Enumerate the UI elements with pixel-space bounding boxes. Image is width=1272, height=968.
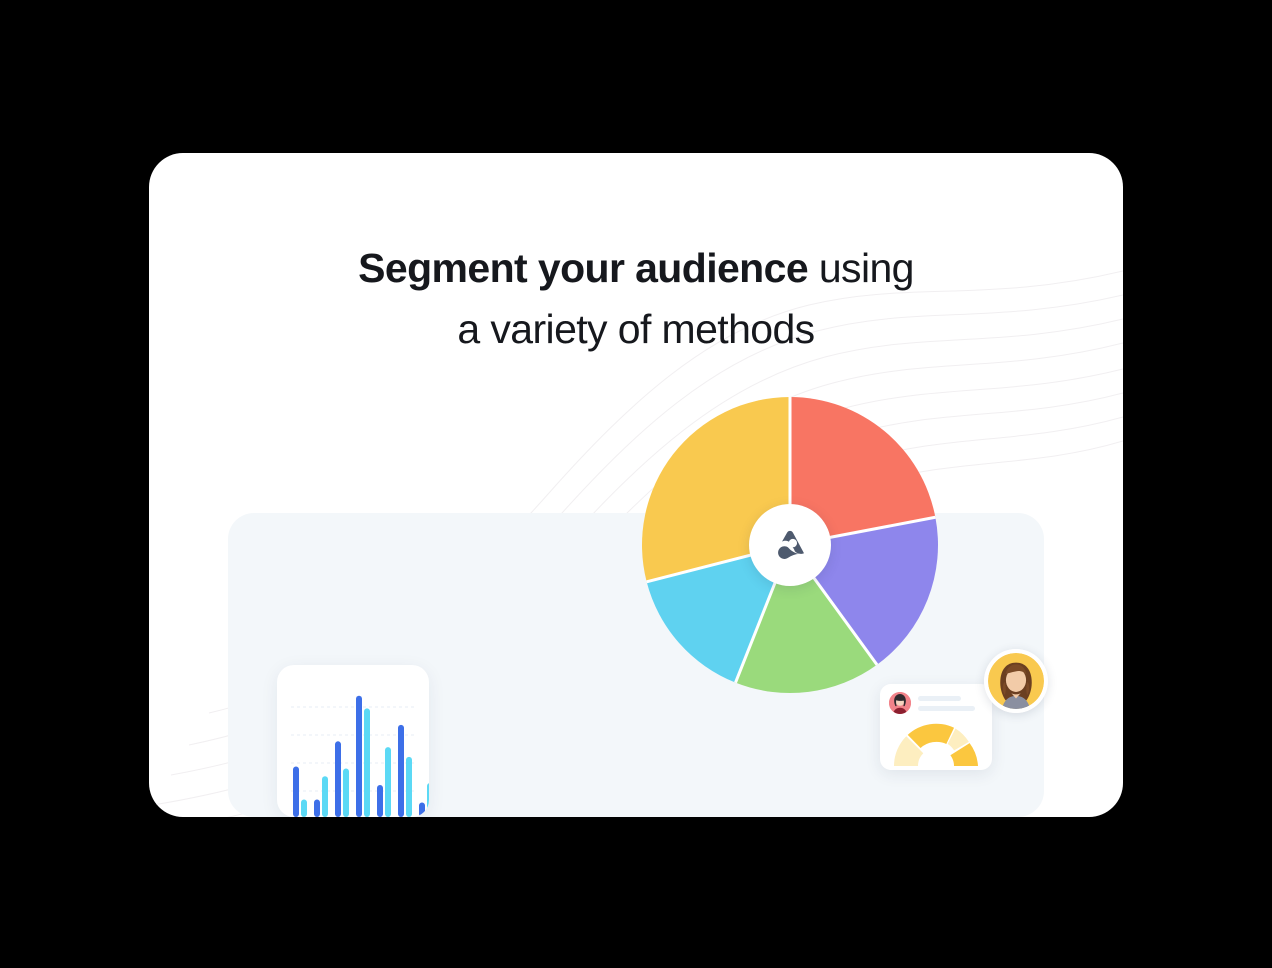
headline-line-one: Segment your audience using <box>358 245 914 291</box>
bar <box>301 800 307 817</box>
gauge-card-header <box>889 692 975 714</box>
bar-chart-bars <box>293 696 429 817</box>
avatar-woman-curly-hair[interactable] <box>984 649 1048 713</box>
brand-logo-hub <box>749 504 831 586</box>
bar <box>335 741 341 817</box>
placeholder-line-2 <box>918 706 975 711</box>
activecampaign-logo-icon <box>770 525 810 565</box>
page-title: Segment your audience using a variety of… <box>149 238 1123 360</box>
headline-regular: using <box>808 245 914 291</box>
bar <box>314 800 320 817</box>
bar <box>343 768 349 817</box>
bar <box>364 708 370 817</box>
bar <box>293 767 299 817</box>
bar <box>322 776 328 817</box>
bar <box>406 757 412 817</box>
headline-bold: Segment your audience <box>358 245 808 291</box>
screenshot-stage: Segment your audience using a variety of… <box>0 0 1272 968</box>
avatar-woman-dark-hair <box>889 692 911 714</box>
avatar-photo <box>988 653 1044 709</box>
placeholder-line-1 <box>918 696 961 701</box>
hero-card: Segment your audience using a variety of… <box>149 153 1123 817</box>
bar-chart <box>277 665 429 817</box>
bar <box>385 747 391 817</box>
bar <box>398 725 404 817</box>
gauge-placeholder-lines <box>918 696 975 711</box>
bar-chart-card <box>277 665 429 817</box>
audience-segment-wheel <box>640 395 940 695</box>
bar <box>377 785 383 817</box>
gauge-chart <box>892 721 980 768</box>
gauge-card <box>880 684 992 770</box>
headline-line-two: a variety of methods <box>457 306 814 352</box>
bar <box>356 696 362 817</box>
